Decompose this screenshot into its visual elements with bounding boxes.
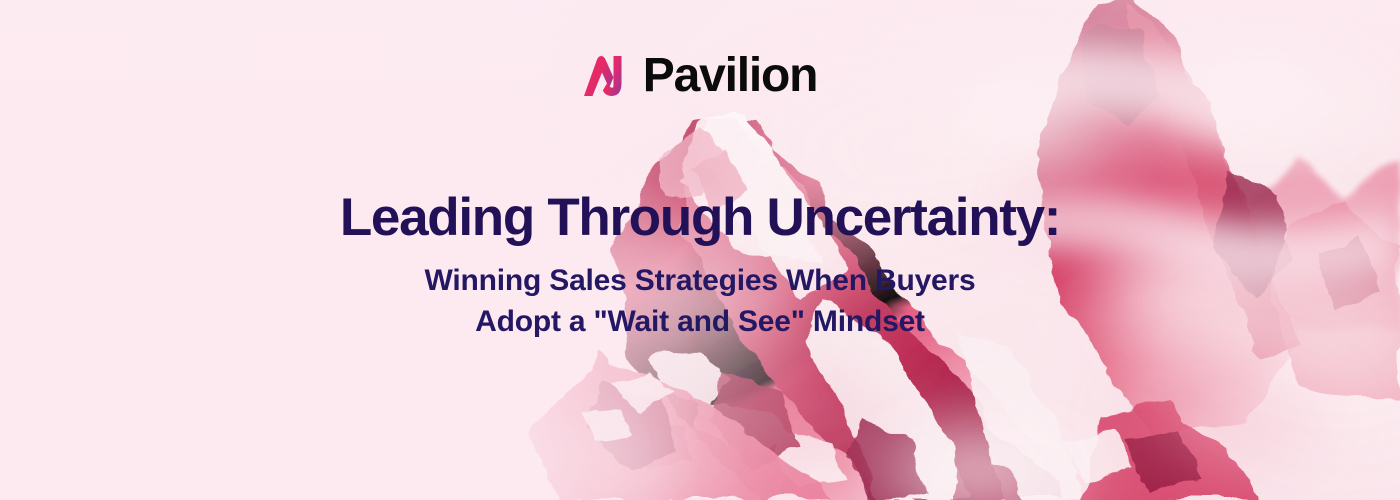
page-subtitle: Winning Sales Strategies When Buyers Ado… (0, 260, 1400, 342)
banner-content: Pavilion Leading Through Uncertainty: Wi… (0, 0, 1400, 500)
pavilion-mark (583, 55, 629, 97)
pavilion-logo: Pavilion (0, 52, 1400, 100)
promotional-banner: Pavilion Leading Through Uncertainty: Wi… (0, 0, 1400, 500)
page-subtitle-line-2: Adopt a "Wait and See" Mindset (0, 301, 1400, 342)
page-subtitle-line-1: Winning Sales Strategies When Buyers (0, 260, 1400, 301)
headline-block: Leading Through Uncertainty: Winning Sal… (0, 190, 1400, 342)
mountain-chevron-logo-icon (583, 55, 629, 97)
page-title: Leading Through Uncertainty: (0, 190, 1400, 246)
pavilion-wordmark: Pavilion (643, 52, 817, 100)
